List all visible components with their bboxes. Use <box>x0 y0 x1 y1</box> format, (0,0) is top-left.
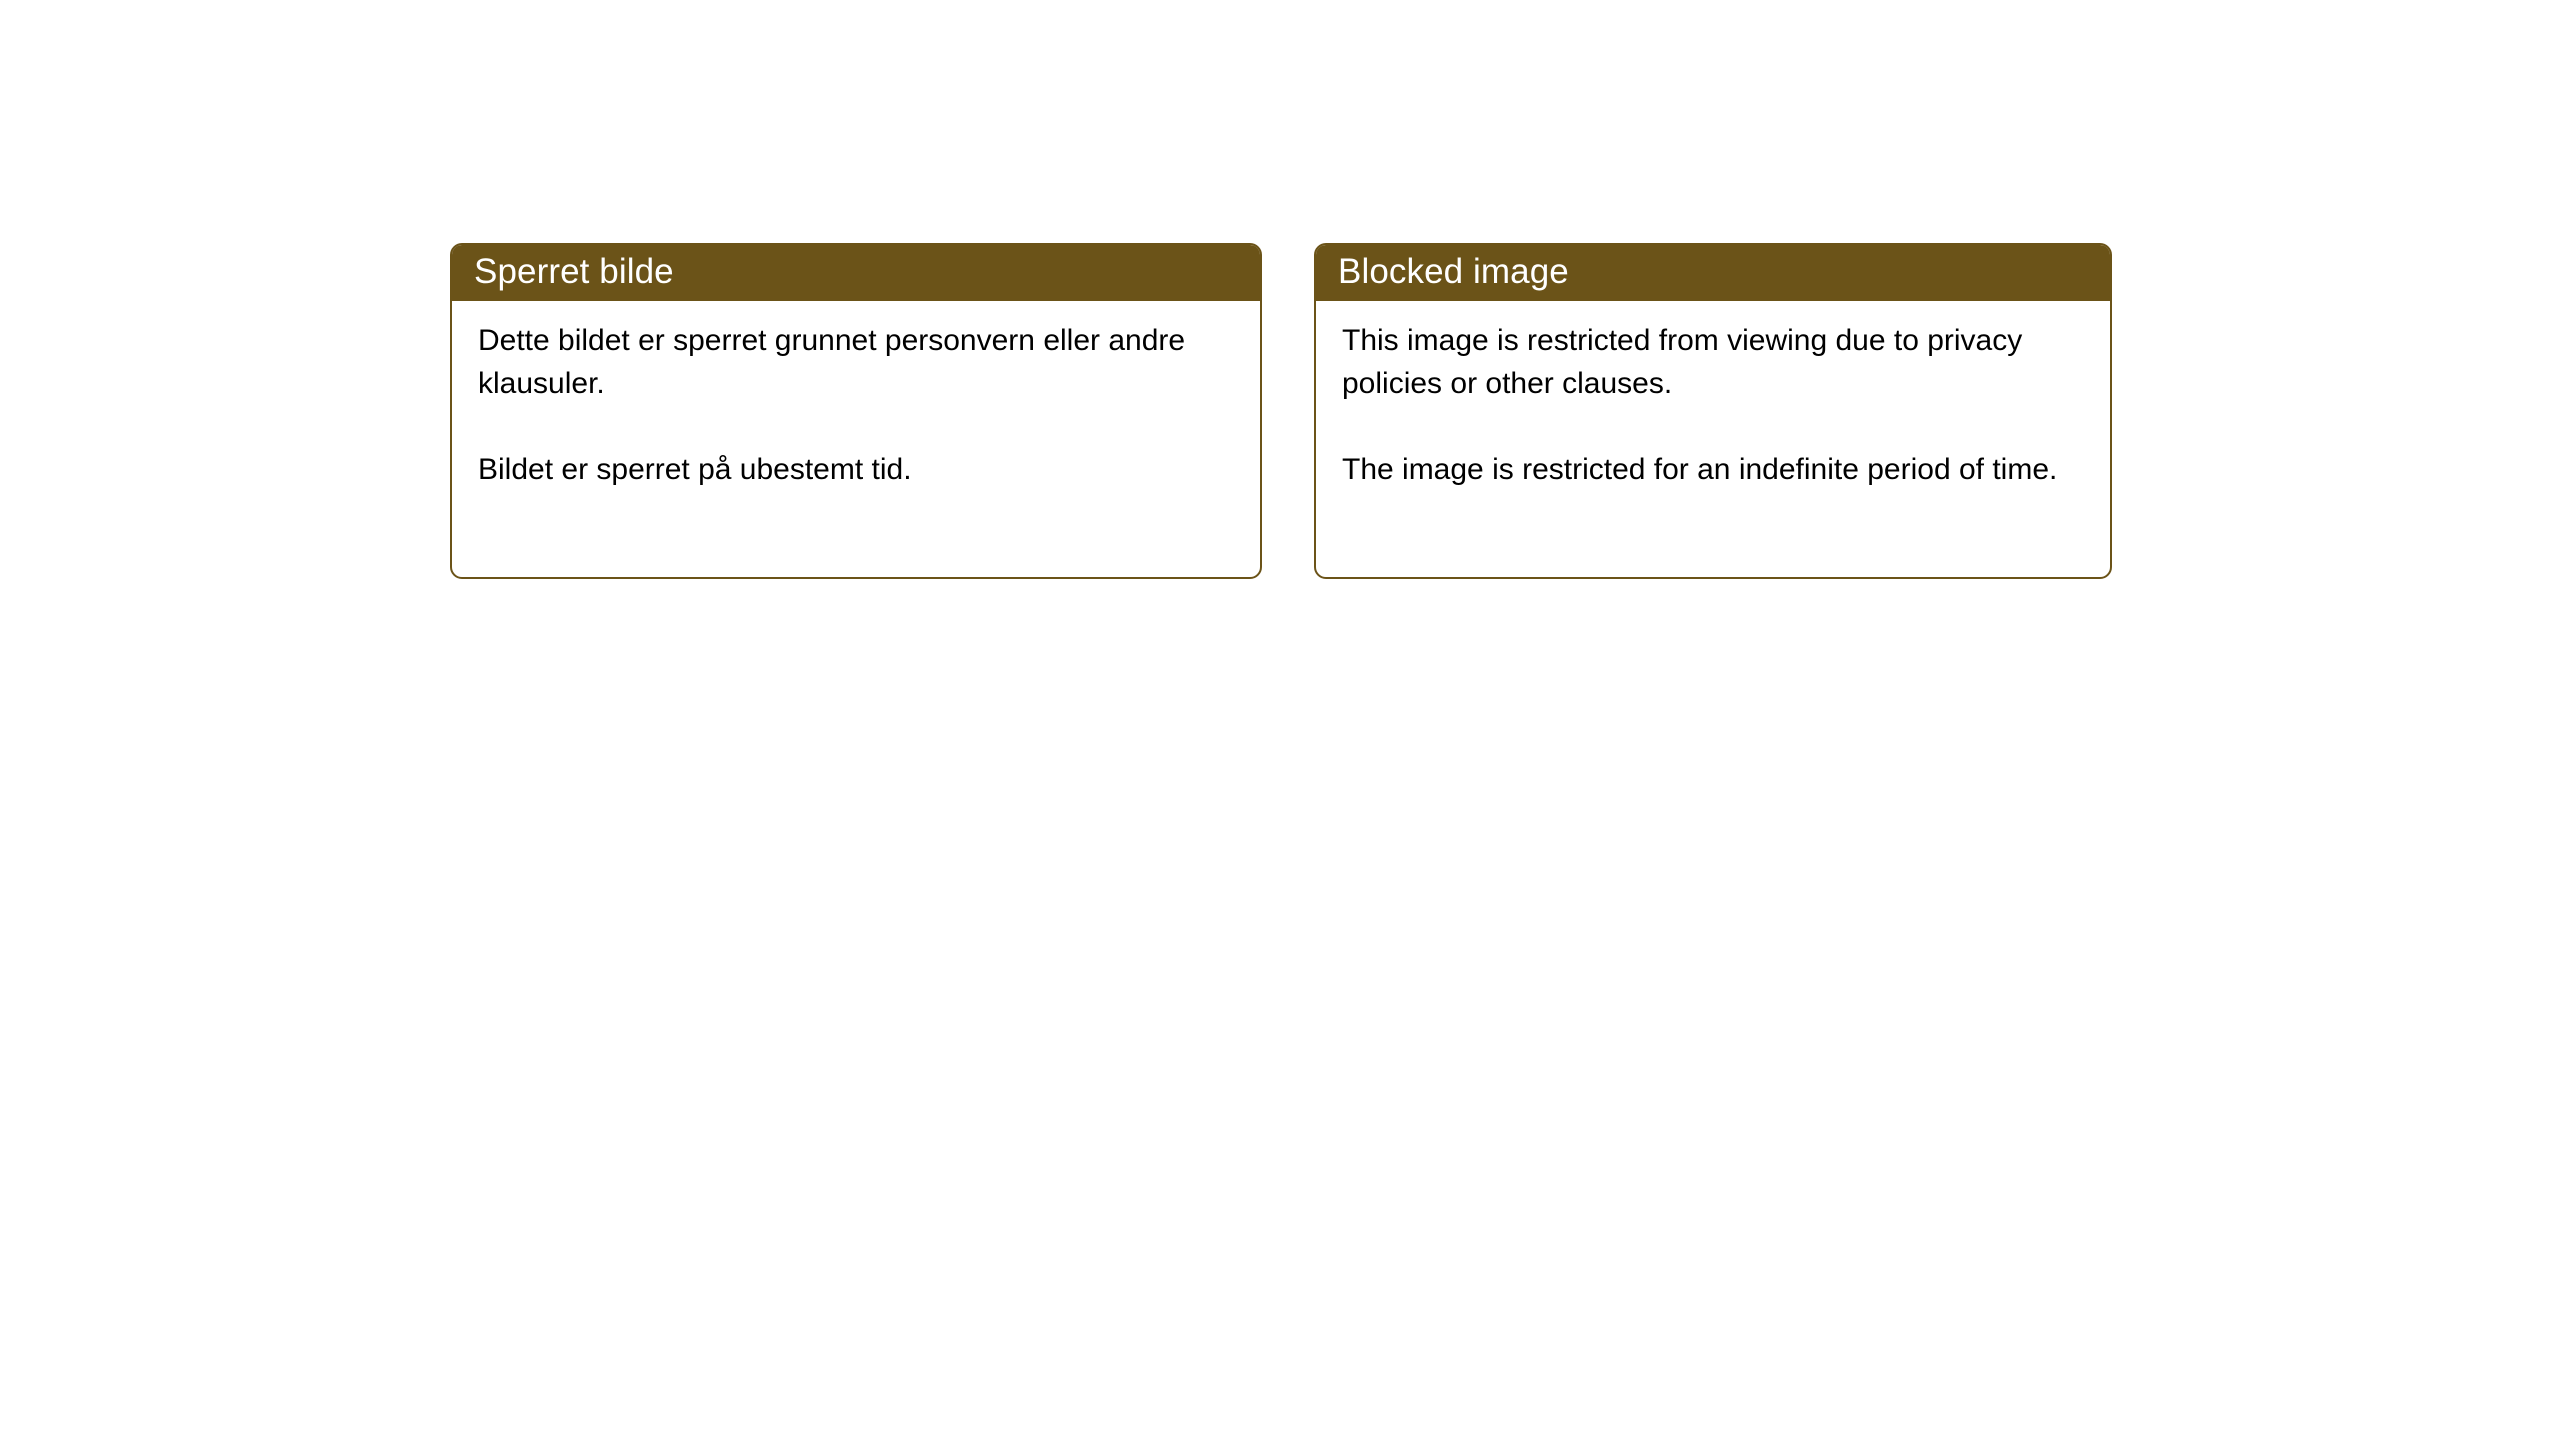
card-header-english: Blocked image <box>1314 243 2112 301</box>
card-paragraph-duration-english: The image is restricted for an indefinit… <box>1342 448 2084 491</box>
card-paragraph-reason-norwegian: Dette bildet er sperret grunnet personve… <box>478 319 1234 405</box>
page-root: Sperret bilde Dette bildet er sperret gr… <box>0 0 2560 1440</box>
card-body-english: This image is restricted from viewing du… <box>1316 301 2110 491</box>
card-paragraph-duration-norwegian: Bildet er sperret på ubestemt tid. <box>478 448 1234 491</box>
blocked-image-notice-card-english: Blocked image This image is restricted f… <box>1314 243 2112 579</box>
card-title-norwegian: Sperret bilde <box>474 252 674 292</box>
blocked-image-notice-card-norwegian: Sperret bilde Dette bildet er sperret gr… <box>450 243 1262 579</box>
card-title-english: Blocked image <box>1338 252 1569 292</box>
card-paragraph-reason-english: This image is restricted from viewing du… <box>1342 319 2084 405</box>
card-header-norwegian: Sperret bilde <box>450 243 1262 301</box>
card-body-norwegian: Dette bildet er sperret grunnet personve… <box>452 301 1260 491</box>
